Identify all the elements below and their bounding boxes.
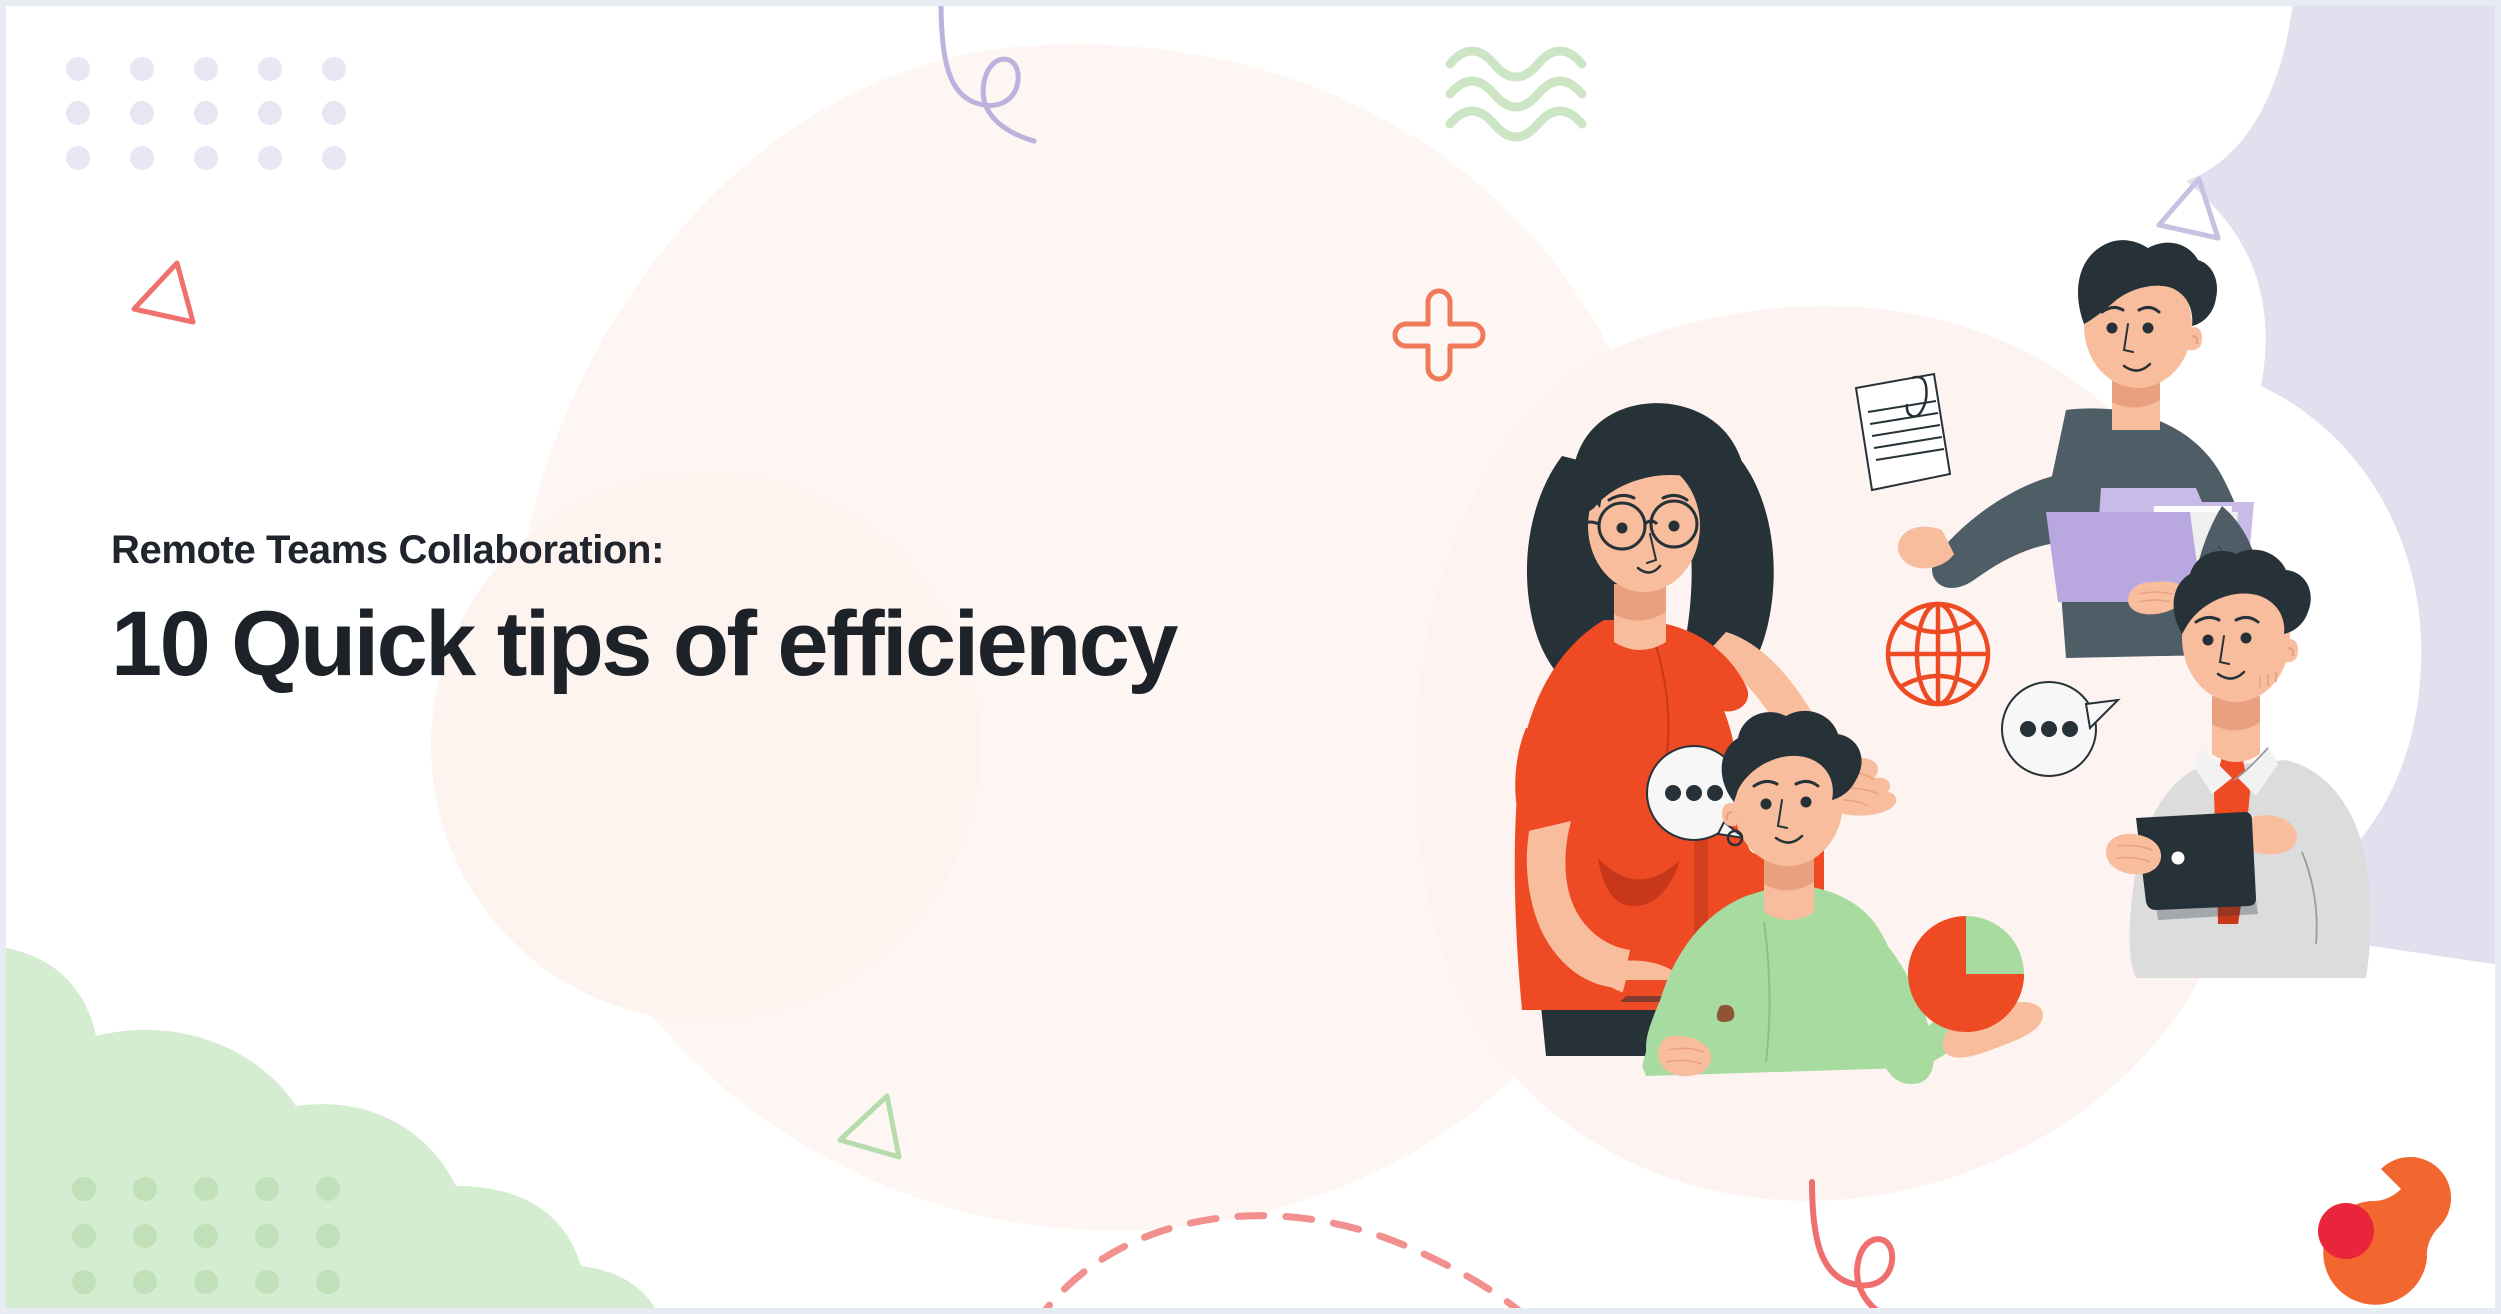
- speech-bubble-right: [2002, 682, 2118, 776]
- pie-chart: [1908, 916, 2024, 1032]
- eyebrow-text: Remote Teams Collaboration:: [111, 526, 1511, 574]
- poster-canvas: Remote Teams Collaboration: 10 Quick tip…: [0, 0, 2501, 1314]
- page-title: 10 Quick tips of efficiency: [111, 596, 1511, 693]
- headline-block: Remote Teams Collaboration: 10 Quick tip…: [111, 526, 1511, 693]
- globe-icon: [1888, 604, 1988, 704]
- document-with-paperclip: [1856, 374, 1950, 490]
